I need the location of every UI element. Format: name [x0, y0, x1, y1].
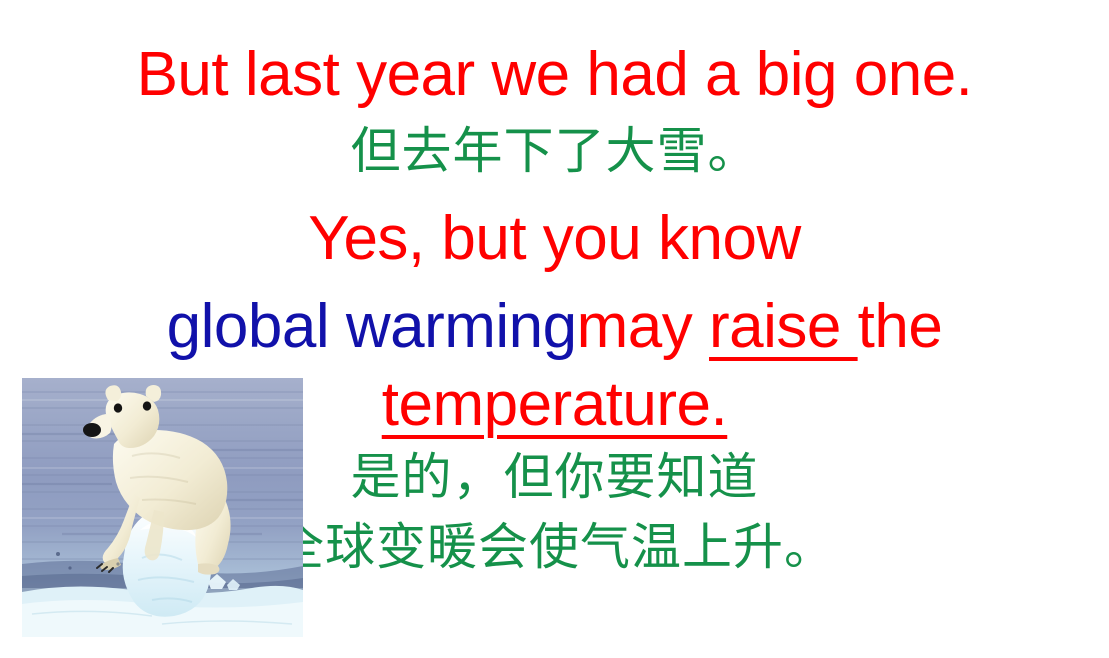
polar-bear-illustration — [22, 378, 303, 637]
word-temperature-underlined: temperature. — [382, 370, 728, 439]
word-may: may — [577, 292, 709, 361]
word-raise-underlined: raise — [709, 292, 858, 361]
polar-bear-image — [22, 378, 303, 637]
word-the: the — [858, 292, 943, 361]
text-line-english-2: Yes, but you know — [0, 208, 1109, 270]
text-line-chinese-1: 但去年下了大雪。 — [0, 126, 1109, 176]
text-line-english-3: global warmingmay raise the — [0, 296, 1109, 358]
slide-canvas: But last year we had a big one. 但去年下了大雪。… — [0, 0, 1109, 658]
text-line-english-1: But last year we had a big one. — [0, 44, 1109, 106]
phrase-global-warming: global warming — [167, 292, 577, 361]
